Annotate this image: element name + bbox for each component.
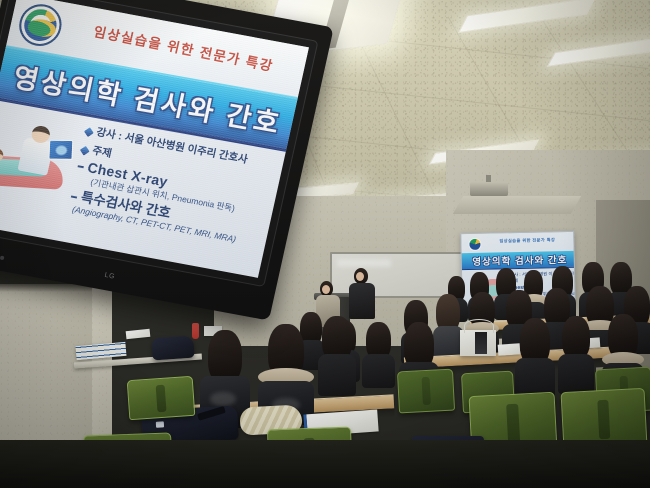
power-led-icon xyxy=(0,256,5,261)
projector-ceiling-plate xyxy=(453,196,581,214)
chair-back-slot xyxy=(156,385,167,412)
student-body xyxy=(362,354,395,388)
tv-brand-mark: LG xyxy=(96,271,124,285)
white-paper-tote-bag xyxy=(460,330,496,356)
red-drink-bottle xyxy=(192,323,199,339)
floor xyxy=(0,440,650,488)
projector-icon xyxy=(470,182,508,196)
presentation-slide: 임상실습을 위한 전문가 특강 영상의학 검사와 간호 강사 : 서울 아산병원… xyxy=(0,0,309,278)
university-emblem-icon xyxy=(468,238,481,251)
lecture-hall-photo: 임상실습을 위한 전문가 특강 영상의학 검사와 간호 강사 : 서울 아산병원… xyxy=(0,0,650,488)
white-handout-papers xyxy=(126,329,151,339)
magazine xyxy=(475,332,487,355)
black-shoulder-bag xyxy=(151,336,194,361)
backpack-strap xyxy=(197,406,226,421)
presenter-face xyxy=(322,285,330,294)
chair-back-slot xyxy=(597,400,611,440)
presenter-torso xyxy=(349,283,375,319)
backpack-tag xyxy=(156,421,164,427)
stacked-books xyxy=(75,342,126,360)
screen-scanline-overlay xyxy=(0,0,309,278)
student-body xyxy=(318,354,356,396)
lecture-chair[interactable] xyxy=(127,376,196,421)
white-handout-papers xyxy=(498,343,521,356)
projection-supertitle: 임상실습을 위한 전문가 특강 xyxy=(485,237,569,245)
presenter-face xyxy=(356,272,364,281)
student-body xyxy=(558,354,594,394)
chair-back-slot xyxy=(506,404,520,444)
lecture-chair[interactable] xyxy=(397,369,455,414)
fabric-highlight xyxy=(210,392,236,406)
chair-back-slot xyxy=(422,377,431,405)
